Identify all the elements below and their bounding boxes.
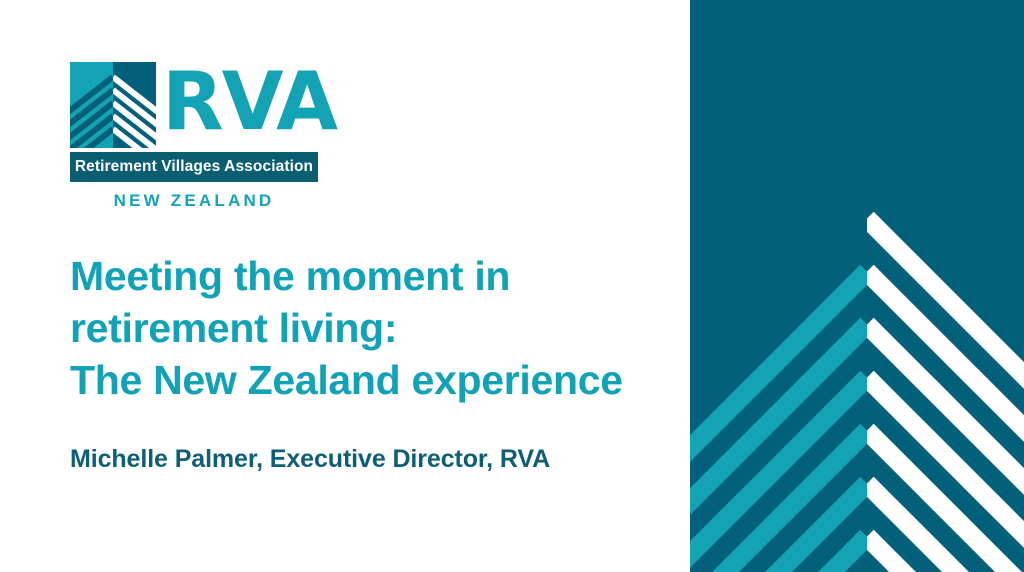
logo-top-row: RVA xyxy=(70,62,318,148)
logo-mark-left-half xyxy=(70,62,113,148)
rva-chevron-mark-icon xyxy=(70,62,156,148)
presentation-slide: RVA Retirement Villages Association NEW … xyxy=(0,0,1024,572)
logo-mark-right-half xyxy=(113,62,156,148)
title-line-2: retirement living: xyxy=(70,302,670,354)
logo-name-bar: Retirement Villages Association xyxy=(70,152,318,182)
chevron-stripes-right xyxy=(867,0,1024,572)
rva-logo: RVA Retirement Villages Association NEW … xyxy=(70,62,318,211)
slide-subtitle-presenter: Michelle Palmer, Executive Director, RVA xyxy=(70,443,550,475)
logo-letters: RVA xyxy=(162,62,336,142)
logo-country-label: NEW ZEALAND xyxy=(70,191,318,211)
title-line-1: Meeting the moment in xyxy=(70,250,670,302)
slide-title: Meeting the moment in retirement living:… xyxy=(70,250,670,406)
chevron-graphic-panel xyxy=(690,0,1024,572)
chevron-stripes-left xyxy=(690,0,867,572)
title-line-3: The New Zealand experience xyxy=(70,354,670,406)
